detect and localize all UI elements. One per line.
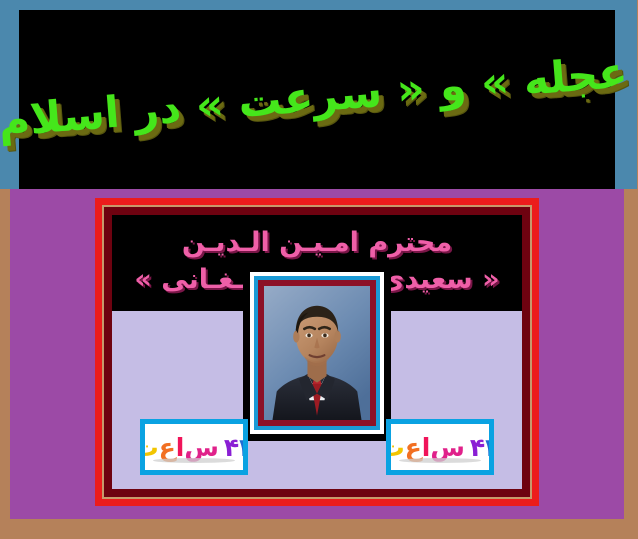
left-border bbox=[0, 189, 11, 539]
badge-right-shadow bbox=[400, 458, 482, 463]
badge-left[interactable]: ۲۴ ساعت bbox=[141, 419, 249, 475]
lavender-panel: ۲۴ ساعت ۲۴ ساعت bbox=[113, 311, 523, 489]
portrait-frame-white bbox=[251, 272, 385, 434]
bottom-border bbox=[0, 519, 638, 539]
poster-root: « عجله » و « سرعت » در اسلام ! محترم امـ… bbox=[0, 0, 638, 539]
right-border bbox=[625, 189, 638, 539]
portrait-photo bbox=[265, 286, 371, 420]
card-body: محترم امـيـن الـديـن « سعيدى – سعيد افـغ… bbox=[113, 215, 523, 489]
heading-line-1: محترم امـيـن الـديـن bbox=[183, 227, 453, 258]
card-maroon-border: محترم امـيـن الـديـن « سعيدى – سعيد افـغ… bbox=[105, 207, 531, 497]
portrait-frame-maroon bbox=[259, 280, 377, 426]
badge-right-text: ۲۴ ساعت bbox=[392, 435, 490, 460]
badge-right[interactable]: ۲۴ ساعت bbox=[387, 419, 495, 475]
badge-right-inner: ۲۴ ساعت bbox=[392, 424, 490, 470]
portrait-frame-blue bbox=[255, 276, 381, 430]
badge-left-digits: ۲۴ bbox=[225, 435, 244, 460]
badge-left-text: ۲۴ ساعت bbox=[146, 435, 244, 460]
banner-background: « عجله » و « سرعت » در اسلام ! bbox=[20, 10, 616, 189]
badge-right-digits: ۲۴ bbox=[471, 435, 490, 460]
badge-left-shadow bbox=[154, 458, 236, 463]
banner-frame: « عجله » و « سرعت » در اسلام ! bbox=[0, 0, 638, 189]
portrait-illustration bbox=[265, 286, 371, 420]
card-gold-border: محترم امـيـن الـديـن « سعيدى – سعيد افـغ… bbox=[103, 205, 533, 499]
portrait-frame bbox=[244, 265, 392, 441]
banner-title: « عجله » و « سرعت » در اسلام ! bbox=[15, 0, 621, 195]
content-card: محترم امـيـن الـديـن « سعيدى – سعيد افـغ… bbox=[96, 198, 540, 506]
badge-left-word: ساعت bbox=[146, 435, 220, 460]
badge-right-word: ساعت bbox=[392, 435, 466, 460]
badge-left-inner: ۲۴ ساعت bbox=[146, 424, 244, 470]
